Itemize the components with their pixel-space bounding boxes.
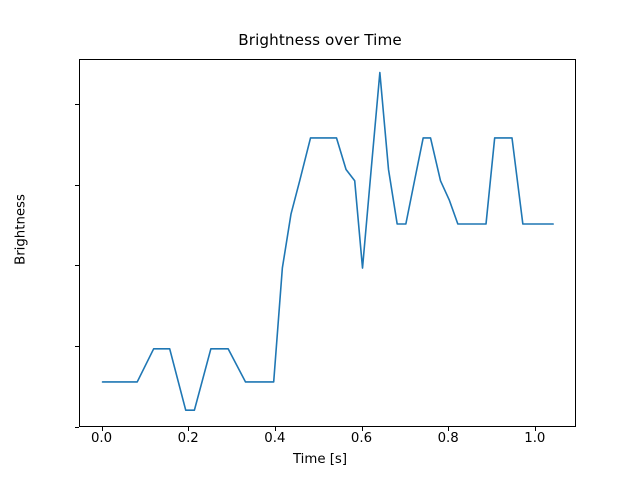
y-tick-mark (75, 104, 79, 105)
y-tick-mark (75, 265, 79, 266)
plot-axes (79, 59, 576, 427)
y-tick-mark (75, 346, 79, 347)
y-tick-mark (75, 185, 79, 186)
chart-title: Brightness over Time (0, 31, 640, 49)
figure-canvas: Brightness over Time Brightness Time [s]… (0, 0, 640, 480)
x-tick-mark (102, 427, 103, 431)
x-tick-label: 1.0 (495, 431, 575, 446)
x-tick-mark (188, 427, 189, 431)
x-tick-label: 0.2 (148, 431, 228, 446)
x-tick-label: 0.8 (408, 431, 488, 446)
x-tick-label: 0.4 (235, 431, 315, 446)
x-axis-label: Time [s] (0, 452, 640, 467)
x-tick-label: 0.0 (62, 431, 142, 446)
x-tick-mark (362, 427, 363, 431)
x-tick-label: 0.6 (322, 431, 402, 446)
x-tick-mark (448, 427, 449, 431)
y-axis-label: Brightness (14, 100, 29, 360)
x-tick-mark (535, 427, 536, 431)
line-series-brightness (80, 60, 577, 428)
x-tick-mark (275, 427, 276, 431)
y-tick-mark (75, 427, 79, 428)
